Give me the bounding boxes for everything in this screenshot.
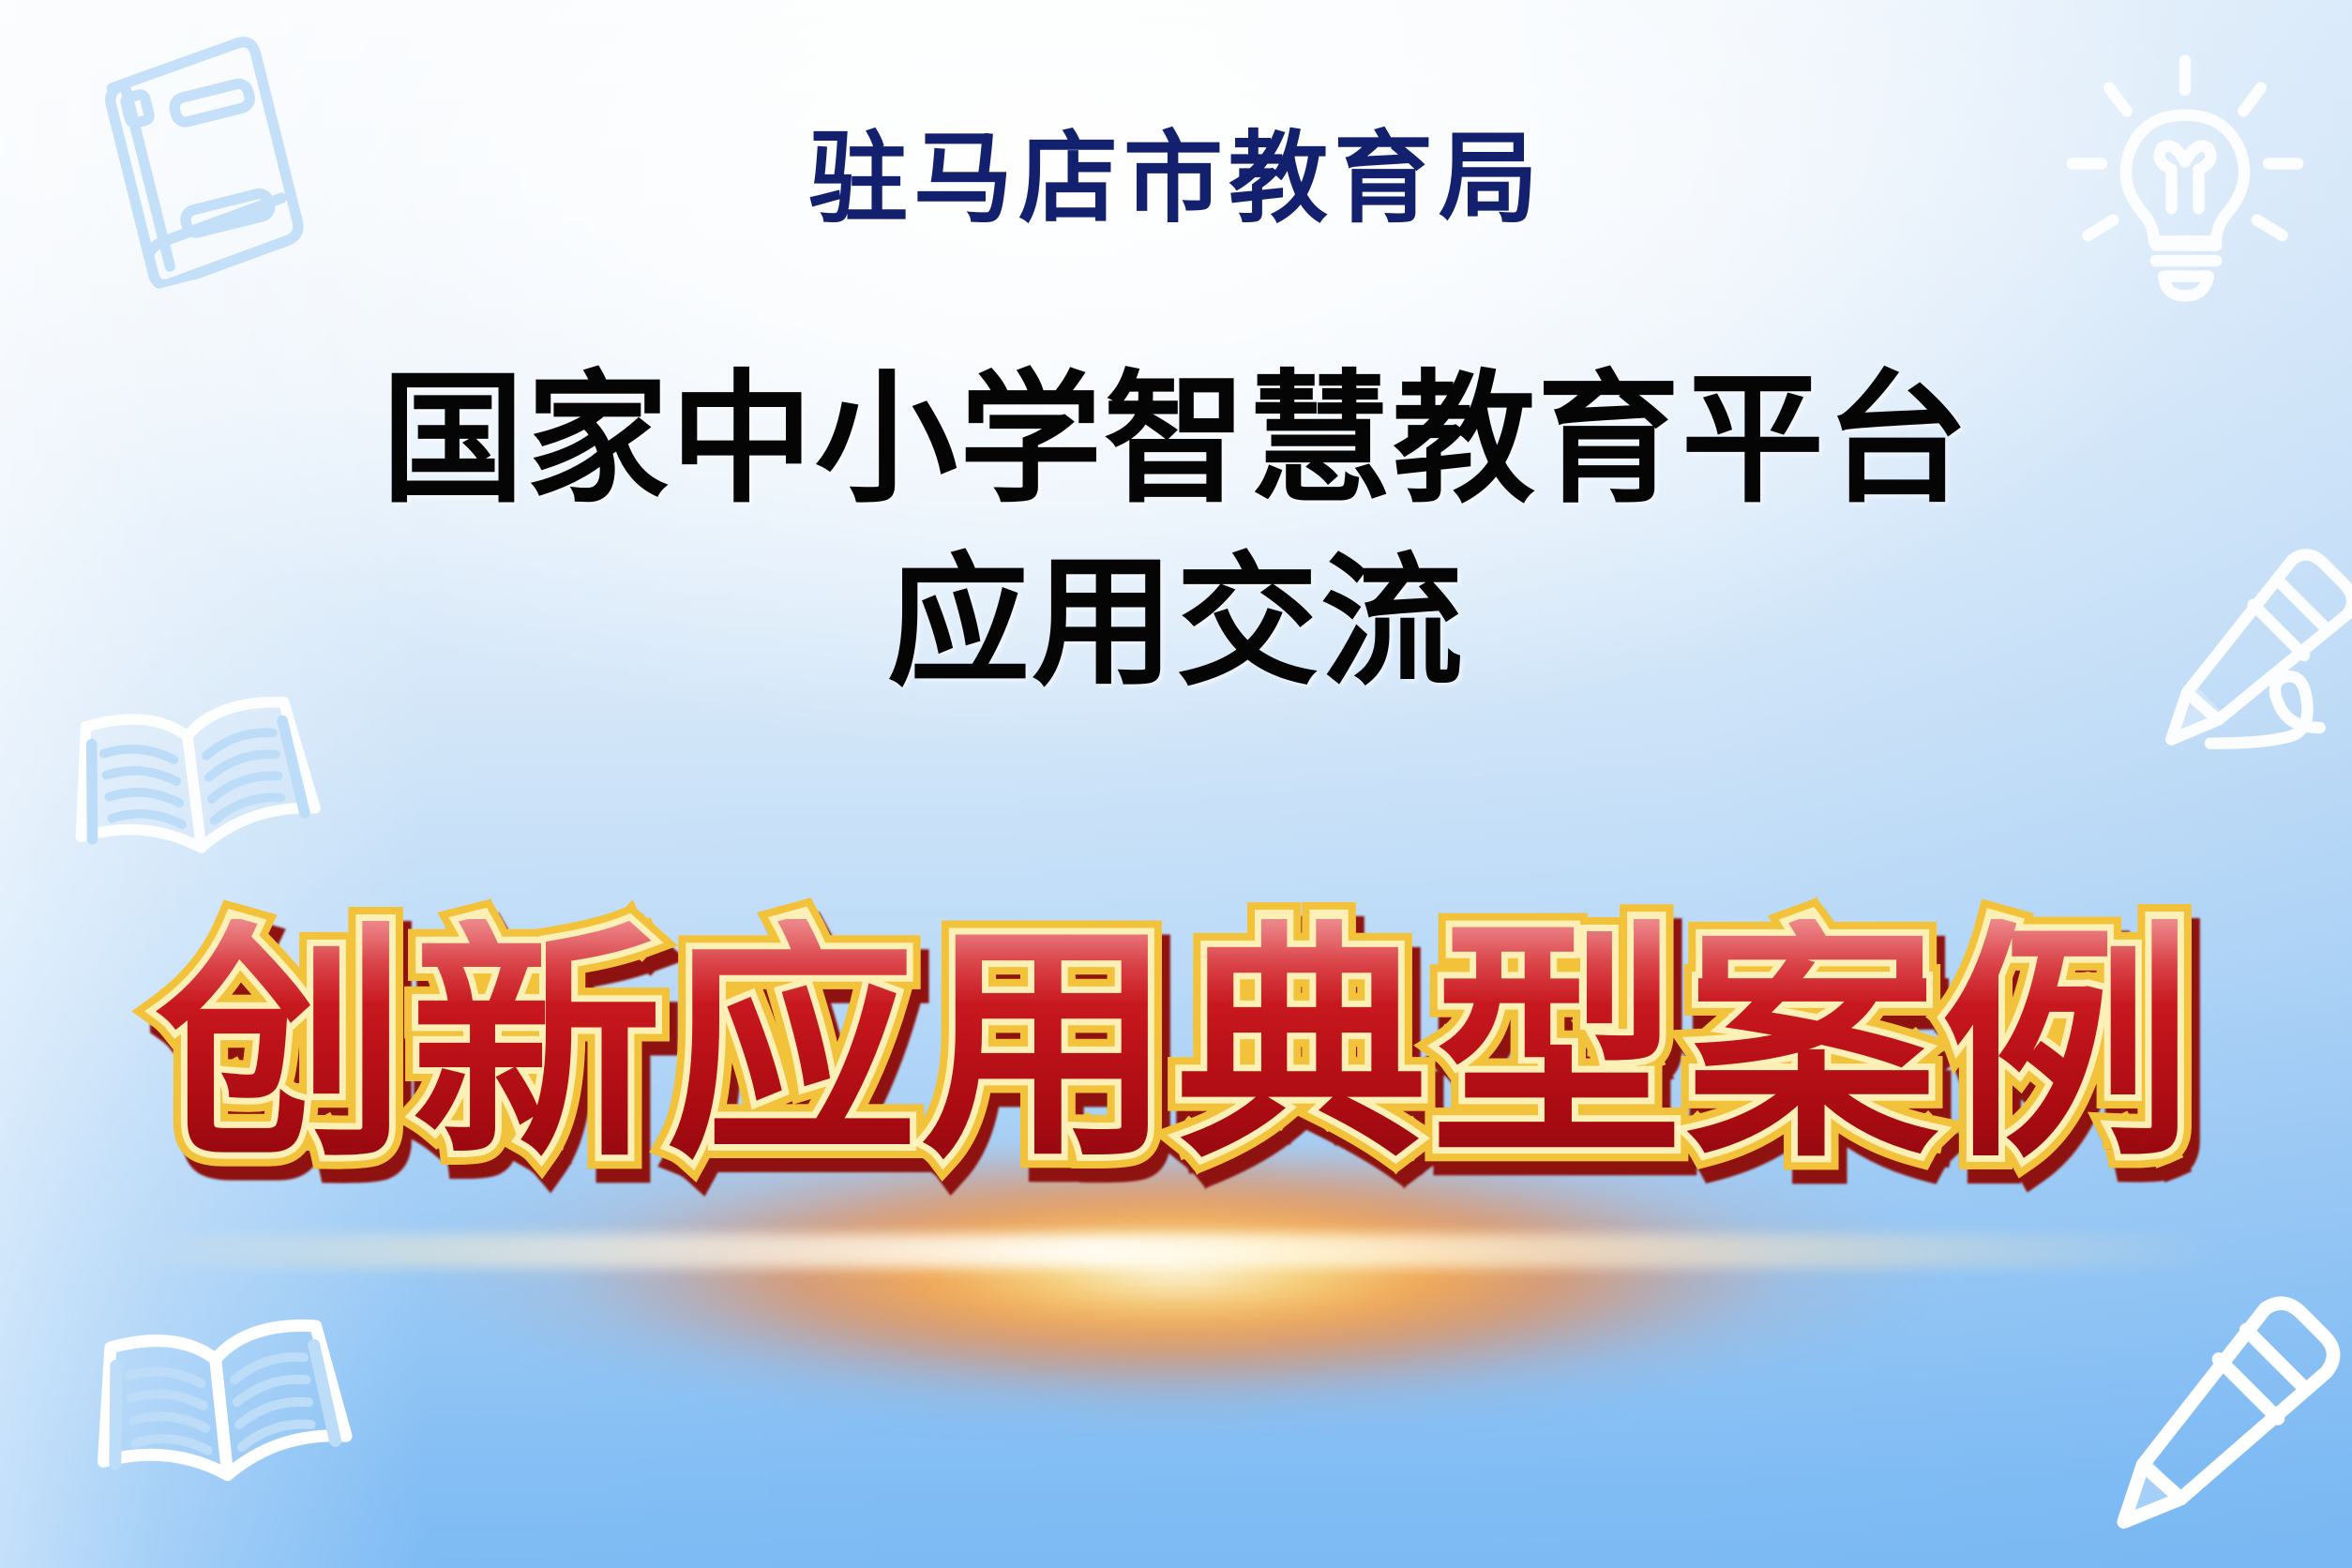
organization-name: 驻马店市教育局 [0,128,2352,233]
platform-title-line-1: 国家中小学智慧教育平台 [0,349,2352,532]
poster-canvas: 驻马店市教育局 国家中小学智慧教育平台 应用交流 创新应用典型案例 创新应用典型… [0,0,2352,1568]
banner-headline-stack: 创新应用典型案例 创新应用典型案例 创新应用典型案例 创新应用典型案例 创新应用… [156,919,2196,1170]
banner-headline: 创新应用典型案例 创新应用典型案例 创新应用典型案例 创新应用典型案例 创新应用… [0,919,2352,1266]
banner-headline-gloss-layer: 创新应用典型案例 [156,919,2196,1170]
platform-title: 国家中小学智慧教育平台 应用交流 [0,349,2352,714]
platform-title-line-2: 应用交流 [0,532,2352,715]
